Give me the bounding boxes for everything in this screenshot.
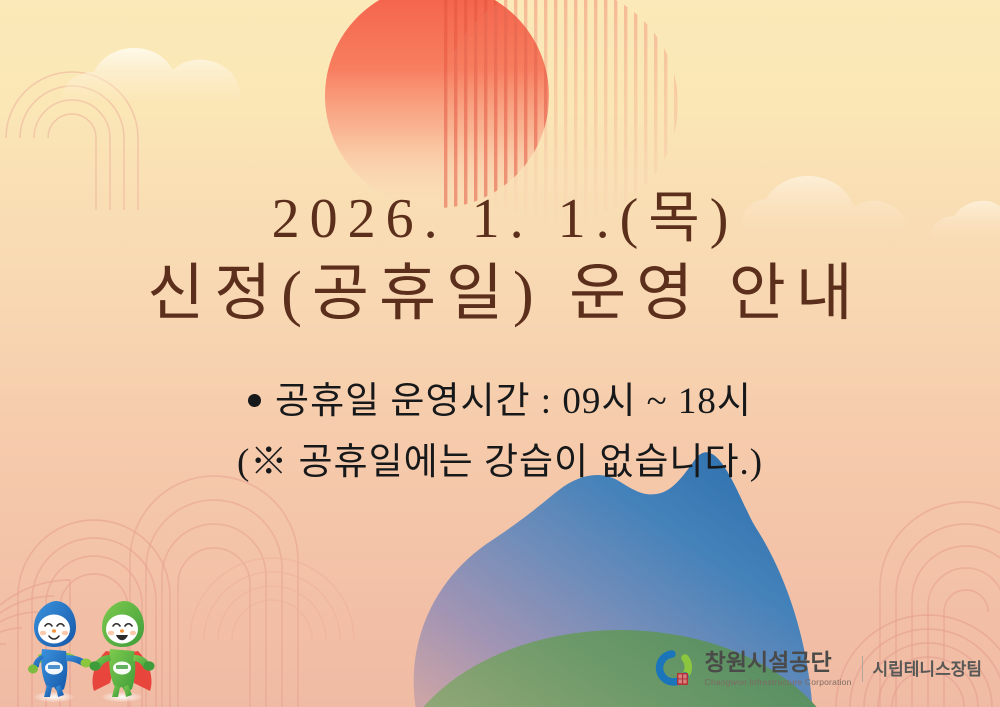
logo-department: 시립테니스장팀: [873, 660, 982, 679]
operating-hours-text: 공휴일 운영시간 : 09시 ~ 18시: [275, 381, 752, 422]
title-date-line: 2026. 1. 1.(목): [0, 186, 1000, 252]
organization-logo: 창원시설공단 Changwon Infrastructure Corporati…: [652, 647, 982, 691]
logo-divider: [862, 656, 863, 682]
logo-organization-korean: 창원시설공단: [705, 651, 832, 674]
logo-organization-english: Changwon Infrastructure Corporation: [705, 677, 852, 687]
mascot-characters: [14, 593, 174, 703]
poster-body: 공휴일 운영시간 : 09시 ~ 18시 (※ 공휴일에는 강습이 없습니다.): [0, 374, 1000, 491]
title-subject-line: 신정(공휴일) 운영 안내: [0, 256, 1000, 332]
logo-seal: [677, 673, 688, 685]
poster-title: 2026. 1. 1.(목) 신정(공휴일) 운영 안내: [0, 186, 1000, 332]
blue-mascot: [28, 601, 92, 702]
logo-text-group: 창원시설공단 Changwon Infrastructure Corporati…: [705, 651, 982, 687]
logo-org-column: 창원시설공단 Changwon Infrastructure Corporati…: [705, 651, 852, 687]
poster-canvas: 2026. 1. 1.(목) 신정(공휴일) 운영 안내 공휴일 운영시간 : …: [0, 0, 1000, 707]
green-mascot: [90, 601, 155, 702]
bullet-dot-icon: [248, 394, 261, 407]
no-lessons-note: (※ 공휴일에는 강습이 없습니다.): [0, 435, 1000, 491]
operating-hours-row: 공휴일 운영시간 : 09시 ~ 18시: [0, 374, 1000, 430]
changwon-logo-mark: [652, 649, 696, 689]
